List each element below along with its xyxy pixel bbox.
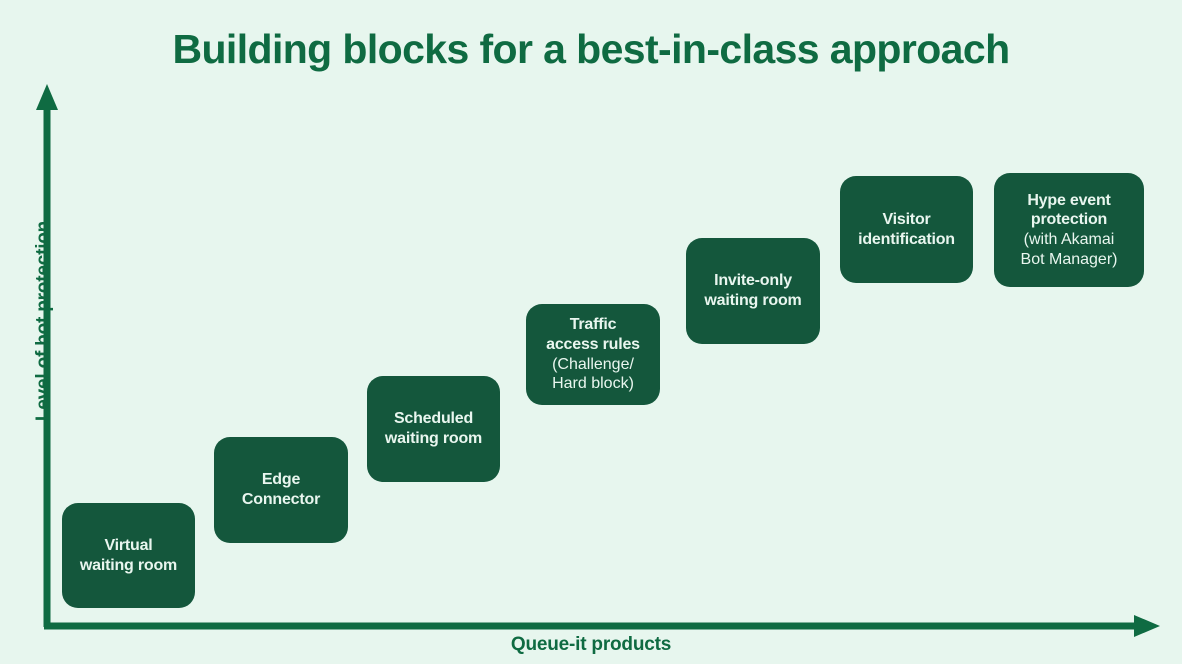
step-label-line: Virtual [68, 536, 189, 556]
arrow-up-icon [36, 84, 58, 110]
step-box-traffic-access-rules[interactable]: Trafficaccess rules(Challenge/Hard block… [526, 304, 660, 405]
x-axis-label: Queue-it products [0, 634, 1182, 656]
step-label-line: waiting room [373, 429, 494, 449]
step-label-line: waiting room [68, 556, 189, 576]
step-sublabel-line: (with Akamai [1000, 230, 1138, 250]
step-sublabel-line: Hard block) [532, 374, 654, 394]
step-box-edge-connector[interactable]: EdgeConnector [214, 437, 348, 543]
step-box-hype-event-protection[interactable]: Hype eventprotection(with AkamaiBot Mana… [994, 173, 1144, 287]
step-box-virtual-waiting-room[interactable]: Virtualwaiting room [62, 503, 195, 608]
step-box-invite-only-waiting-room[interactable]: Invite-onlywaiting room [686, 238, 820, 344]
step-label-line: Edge [220, 470, 342, 490]
step-label-line: identification [846, 230, 967, 250]
step-label-line: waiting room [692, 291, 814, 311]
step-label-line: Scheduled [373, 409, 494, 429]
y-axis-label: Level of bot protection [33, 171, 55, 471]
diagram-canvas: Building blocks for a best-in-class appr… [0, 0, 1182, 664]
step-label-line: Connector [220, 490, 342, 510]
step-sublabel-line: (Challenge/ [532, 355, 654, 375]
step-box-scheduled-waiting-room[interactable]: Scheduledwaiting room [367, 376, 500, 482]
step-label-line: Hype event [1000, 191, 1138, 211]
step-label-line: Traffic [532, 315, 654, 335]
step-label-line: Invite-only [692, 271, 814, 291]
step-box-visitor-identification[interactable]: Visitoridentification [840, 176, 973, 283]
page-title: Building blocks for a best-in-class appr… [0, 26, 1182, 73]
step-label-line: access rules [532, 335, 654, 355]
step-label-line: protection [1000, 210, 1138, 230]
step-sublabel-line: Bot Manager) [1000, 250, 1138, 270]
step-label-line: Visitor [846, 210, 967, 230]
